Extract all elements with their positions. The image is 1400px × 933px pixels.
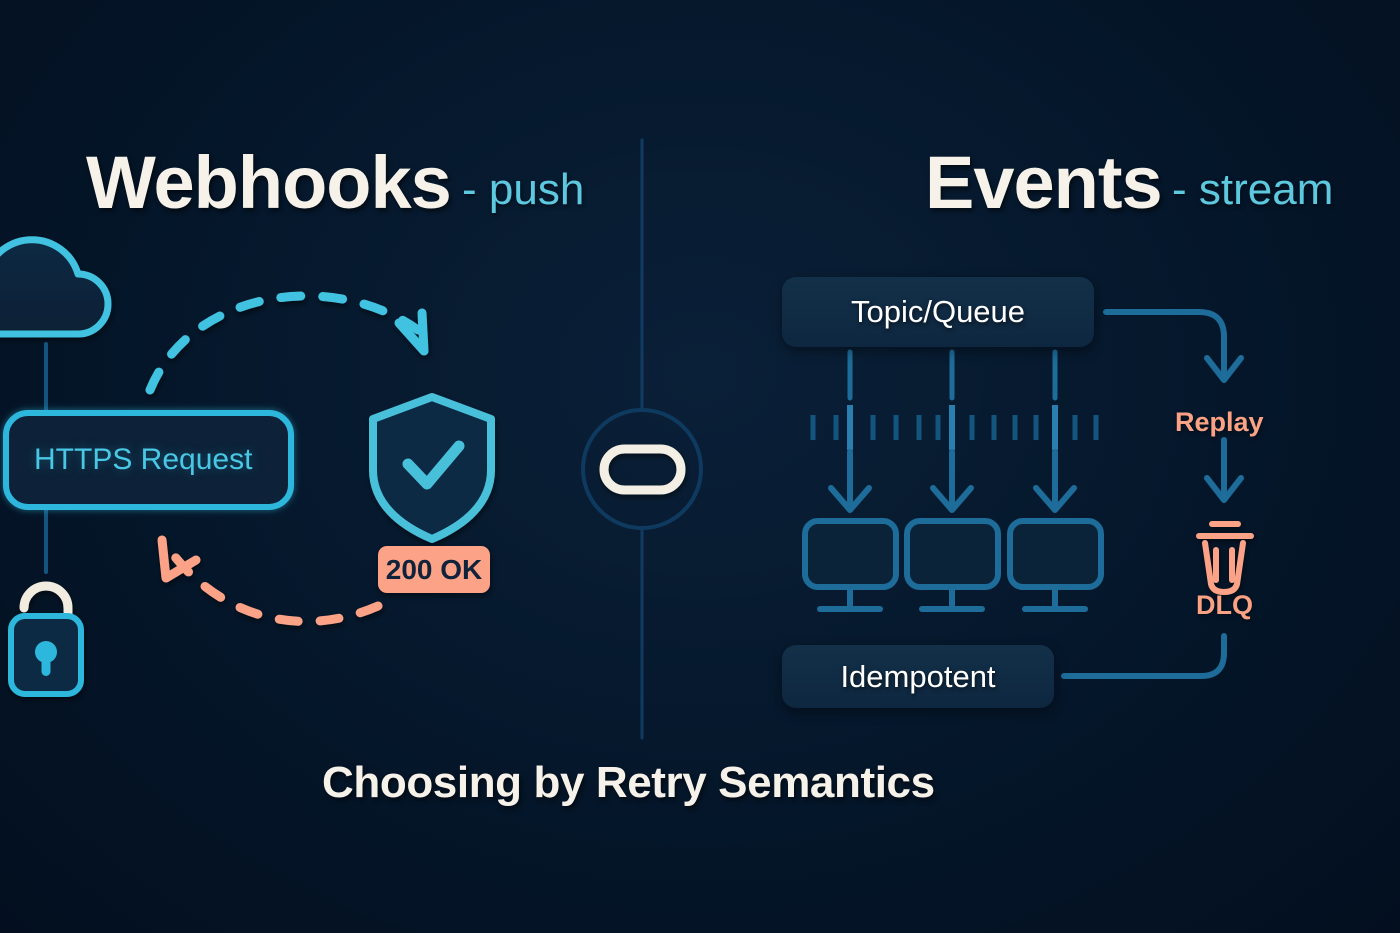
https-request-label: HTTPS Request bbox=[34, 445, 252, 475]
page-caption: Choosing by Retry Semantics bbox=[322, 761, 935, 805]
diagram-canvas: Webhooks - push Events - stream HTTPS Re… bbox=[0, 0, 1400, 933]
topic-queue-label: Topic/Queue bbox=[851, 294, 1025, 330]
consumer-delivery-arrows bbox=[831, 452, 1074, 510]
push-request-arrow bbox=[150, 296, 424, 390]
cloud-icon bbox=[0, 240, 108, 334]
consumer-2[interactable] bbox=[907, 521, 998, 609]
left-title: Webhooks bbox=[86, 146, 451, 220]
idempotent-box[interactable]: Idempotent bbox=[782, 645, 1054, 708]
trash-icon bbox=[1199, 524, 1251, 592]
center-emblem bbox=[583, 410, 701, 528]
shield-check-icon bbox=[373, 397, 491, 539]
ack-response-arrow bbox=[162, 540, 378, 621]
idempotent-label: Idempotent bbox=[840, 659, 995, 695]
topic-to-replay-connector bbox=[1106, 312, 1241, 380]
lock-icon bbox=[11, 586, 81, 694]
partition-ticks bbox=[813, 405, 1096, 450]
replay-to-dlq-arrow bbox=[1207, 440, 1241, 500]
replay-label: Replay bbox=[1175, 409, 1264, 436]
topic-fanout-stems bbox=[850, 352, 1055, 398]
consumer-1[interactable] bbox=[805, 521, 896, 609]
status-badge-label: 200 OK bbox=[386, 554, 483, 586]
topic-queue-box[interactable]: Topic/Queue bbox=[782, 277, 1094, 347]
status-badge[interactable]: 200 OK bbox=[378, 546, 490, 593]
dlq-label: DLQ bbox=[1196, 592, 1253, 619]
right-title-suffix: - stream bbox=[1172, 168, 1333, 212]
left-title-suffix: - push bbox=[462, 168, 584, 212]
right-title: Events bbox=[925, 146, 1162, 220]
consumer-3[interactable] bbox=[1010, 521, 1101, 609]
idempotent-to-dlq-connector bbox=[1064, 636, 1224, 676]
